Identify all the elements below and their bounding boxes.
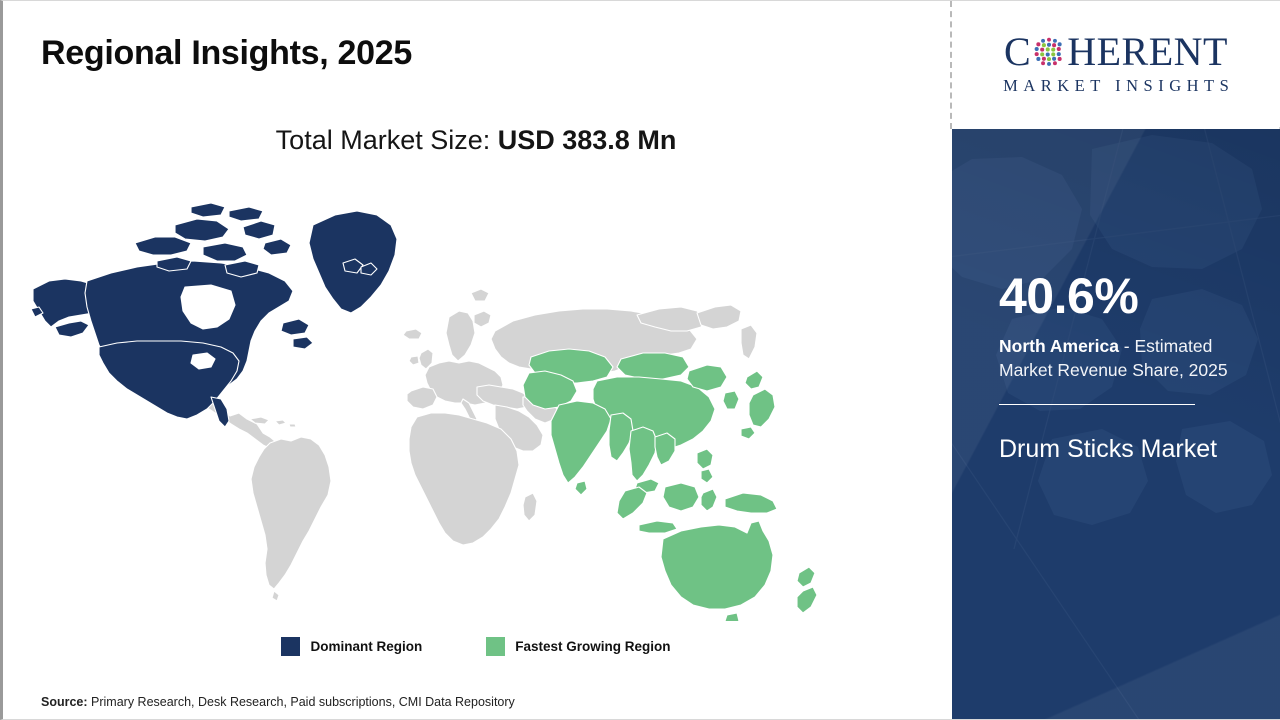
source-label: Source: xyxy=(41,695,88,709)
logo-wordmark-pre: C xyxy=(1004,32,1031,72)
brand-logo: C xyxy=(952,1,1280,127)
share-percent-value: 40.6% xyxy=(999,271,1254,321)
legend-swatch-fastest xyxy=(486,637,505,656)
logo-wordmark-post: HERENT xyxy=(1067,32,1228,72)
logo-wordmark: C xyxy=(1004,32,1228,72)
source-text: Primary Research, Desk Research, Paid su… xyxy=(88,695,515,709)
market-size-label: Total Market Size: xyxy=(276,125,498,155)
legend-label-fastest-growing: Fastest Growing Region xyxy=(515,639,670,654)
market-name: Drum Sticks Market xyxy=(999,433,1229,466)
total-market-size: Total Market Size: USD 383.8 Mn xyxy=(3,125,949,156)
world-map-container xyxy=(25,181,835,621)
legend-item-dominant: Dominant Region xyxy=(281,637,422,656)
world-map-svg xyxy=(25,181,835,621)
infographic-root: Regional Insights, 2025 Total Market Siz… xyxy=(0,0,1280,720)
insight-panel: 40.6% North America - Estimated Market R… xyxy=(952,129,1280,719)
share-caption: North America - Estimated Market Revenue… xyxy=(999,334,1254,383)
map-region-asia-pacific xyxy=(523,349,817,621)
panel-content: 40.6% North America - Estimated Market R… xyxy=(952,129,1280,466)
legend-item-fastest-growing: Fastest Growing Region xyxy=(486,637,670,656)
legend-swatch-dominant xyxy=(281,637,300,656)
share-region-name: North America xyxy=(999,336,1119,356)
map-region-north-america xyxy=(31,203,397,427)
logo-tagline: MARKET INSIGHTS xyxy=(998,76,1235,96)
legend-label-dominant: Dominant Region xyxy=(310,639,422,654)
source-note: Source: Primary Research, Desk Research,… xyxy=(41,695,515,709)
globe-dots-icon xyxy=(1032,35,1066,69)
main-content-area: Regional Insights, 2025 Total Market Siz… xyxy=(3,1,949,719)
market-size-value: USD 383.8 Mn xyxy=(498,125,677,155)
map-legend: Dominant Region Fastest Growing Region xyxy=(3,637,949,656)
page-title: Regional Insights, 2025 xyxy=(41,34,412,73)
right-column: C xyxy=(952,1,1280,719)
panel-divider xyxy=(999,404,1195,405)
